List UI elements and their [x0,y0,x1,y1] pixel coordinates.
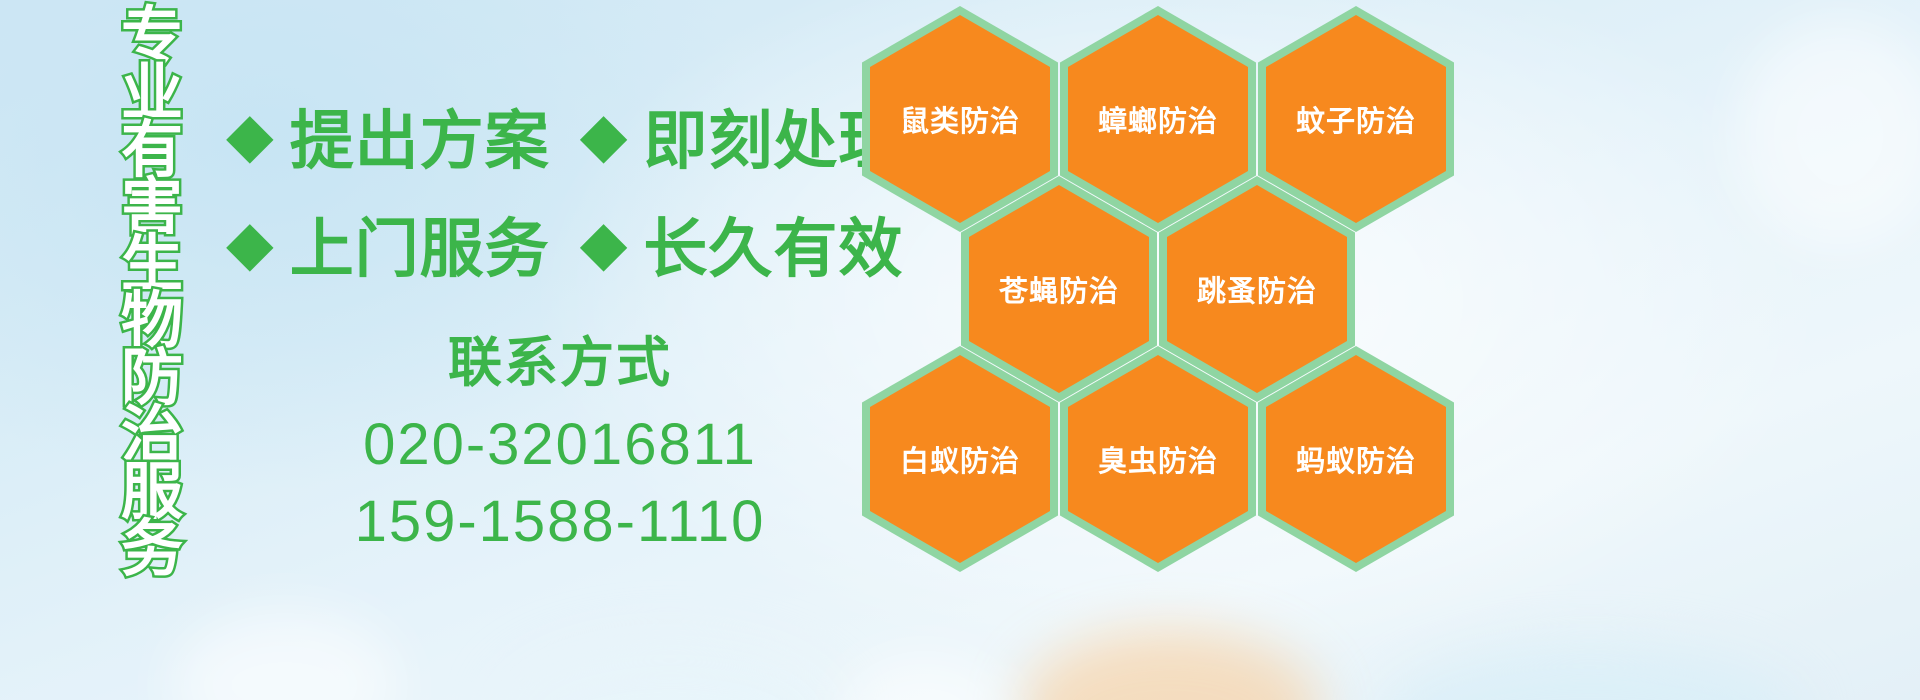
contact-phone-mobile[interactable]: 159-1588-1110 [300,484,820,561]
service-label: 蚊子防治 [1296,98,1416,140]
service-hex-ant[interactable]: 蚂蚁防治 [1258,346,1454,572]
service-honeycomb: 鼠类防治 蟑螂防治 蚊子防治 苍蝇防治 [862,0,1462,570]
bokeh-decoration [170,610,400,700]
service-label: 臭虫防治 [1098,438,1218,480]
service-label: 鼠类防治 [900,98,1020,140]
vertical-headline-char: 务 [121,521,183,578]
service-hex-bedbug[interactable]: 臭虫防治 [1060,346,1256,572]
hex-shape: 白蚁防治 [862,346,1058,572]
feature-row: ◆ 提出方案 ◆ 即刻处理 [226,82,866,190]
service-hex-termite[interactable]: 白蚁防治 [862,346,1058,572]
feature-label: 提出方案 [290,90,550,182]
diamond-bullet-icon: ◆ [580,105,628,167]
service-label: 蟑螂防治 [1098,98,1218,140]
hex-inner-shape: 蚂蚁防治 [1266,355,1446,563]
diamond-bullet-icon: ◆ [226,213,274,275]
vertical-headline-char: 业 [121,65,183,122]
hex-inner-shape: 臭虫防治 [1068,355,1248,563]
service-label: 苍蝇防治 [999,268,1119,310]
bokeh-decoration [1380,645,1800,700]
service-label: 跳蚤防治 [1197,268,1317,310]
contact-phone-landline[interactable]: 020-32016811 [300,407,820,484]
pest-control-banner: 专 业 有 害 生 物 防 治 服 务 ◆ 提出方案 ◆ 即刻处理 ◆ 上门服务… [0,0,1920,700]
vertical-headline-char: 害 [121,179,183,236]
contact-title: 联系方式 [300,318,820,397]
hex-inner-shape: 白蚁防治 [870,355,1050,563]
bokeh-decoration [1020,630,1320,700]
vertical-headline-char: 防 [121,350,183,407]
vertical-headline: 专 业 有 害 生 物 防 治 服 务 [104,8,200,568]
bokeh-decoration [500,640,840,700]
vertical-headline-char: 治 [121,407,183,464]
contact-block: 联系方式 020-32016811 159-1588-1110 [300,318,820,560]
vertical-headline-char: 有 [121,122,183,179]
diamond-bullet-icon: ◆ [226,105,274,167]
bokeh-decoration [840,655,1010,700]
service-label: 蚂蚁防治 [1296,438,1416,480]
vertical-headline-char: 物 [121,293,183,350]
feature-list: ◆ 提出方案 ◆ 即刻处理 ◆ 上门服务 ◆ 长久有效 [226,82,866,298]
hex-shape: 蚂蚁防治 [1258,346,1454,572]
feature-row: ◆ 上门服务 ◆ 长久有效 [226,190,866,298]
diamond-bullet-icon: ◆ [580,213,628,275]
hex-shape: 臭虫防治 [1060,346,1256,572]
bokeh-decoration [1735,20,1920,250]
vertical-headline-char: 生 [121,236,183,293]
vertical-headline-char: 专 [121,8,183,65]
vertical-headline-char: 服 [121,464,183,521]
feature-label: 上门服务 [290,198,550,290]
service-label: 白蚁防治 [900,438,1020,480]
